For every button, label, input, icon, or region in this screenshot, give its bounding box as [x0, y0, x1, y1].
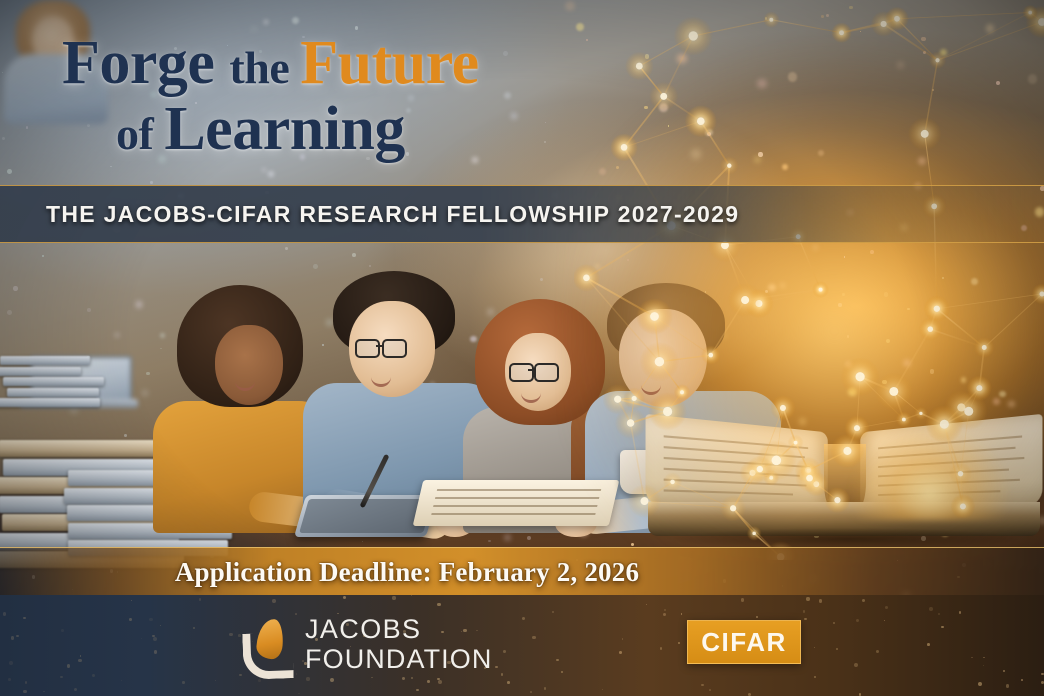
jacobs-logo-line-two: FOUNDATION	[305, 646, 493, 673]
subtitle-text: THE JACOBS-CIFAR RESEARCH FELLOWSHIP 202…	[0, 201, 739, 228]
jacobs-foundation-logo[interactable]: JACOBS FOUNDATION	[243, 616, 493, 673]
headline-future: Future	[300, 29, 478, 97]
headline-forge: Forge	[62, 29, 229, 97]
jacobs-logo-line-one: JACOBS	[305, 616, 493, 643]
footer-bar	[0, 595, 1044, 696]
page-title: Forge the Future of Learning	[62, 34, 682, 159]
headline-learning: Learning	[164, 95, 405, 163]
poster-canvas: Forge the Future of Learning THE JACOBS-…	[0, 0, 1044, 696]
jacobs-j-mark-icon	[243, 619, 291, 671]
deadline-text: Application Deadline: February 2, 2026	[0, 557, 1044, 588]
cifar-logo[interactable]: CIFAR	[687, 620, 801, 664]
headline-of: of	[116, 108, 164, 159]
jacobs-logo-wordmark: JACOBS FOUNDATION	[305, 616, 493, 673]
subtitle-band: THE JACOBS-CIFAR RESEARCH FELLOWSHIP 202…	[0, 185, 1044, 243]
cifar-logo-text: CIFAR	[701, 627, 787, 658]
headline-line-two: of Learning	[62, 100, 682, 160]
deadline-band: Application Deadline: February 2, 2026	[0, 547, 1044, 597]
headline-the: the	[229, 42, 300, 93]
headline-line-one: Forge the Future	[62, 34, 682, 94]
